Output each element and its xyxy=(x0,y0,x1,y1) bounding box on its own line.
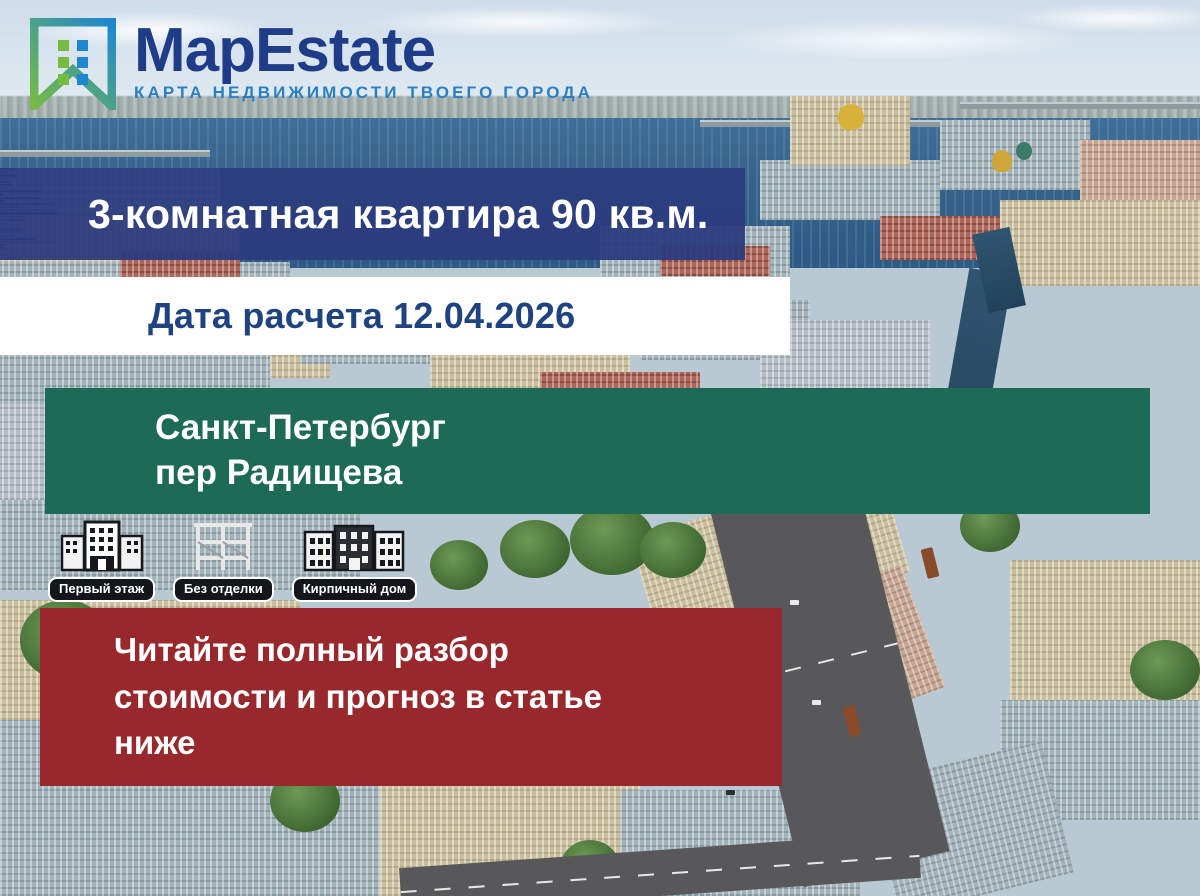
tree xyxy=(1130,640,1200,700)
car xyxy=(812,700,821,705)
cta-text: Читайте полный разбор стоимости и прогно… xyxy=(40,627,782,768)
tree xyxy=(640,522,706,578)
bridge xyxy=(0,150,210,157)
cta-line-3: ниже xyxy=(114,720,782,767)
badge-no-finishing: Без отделки xyxy=(173,518,274,602)
real-estate-poster: MapEstate КАРТА НЕДВИЖИМОСТИ ТВОЕГО ГОРО… xyxy=(0,0,1200,896)
city-block xyxy=(1000,200,1200,286)
city-block xyxy=(940,120,1090,190)
car xyxy=(726,790,735,795)
cta-line-1: Читайте полный разбор xyxy=(114,627,782,674)
badge-label: Кирпичный дом xyxy=(292,577,417,602)
location-text: Санкт-Петербург пер Радищева xyxy=(45,406,1150,496)
cta-banner: Читайте полный разбор стоимости и прогно… xyxy=(40,608,782,786)
calculation-date-banner: Дата расчета 12.04.2026 xyxy=(0,277,790,355)
brand-logo[interactable]: MapEstate КАРТА НЕДВИЖИМОСТИ ТВОЕГО ГОРО… xyxy=(30,18,593,110)
brick-apartment-building-icon xyxy=(302,518,406,574)
colored-dome xyxy=(1016,142,1032,160)
brand-tagline: КАРТА НЕДВИЖИМОСТИ ТВОЕГО ГОРОДА xyxy=(134,83,593,103)
tree xyxy=(430,540,488,590)
badge-first-floor: Первый этаж xyxy=(48,518,155,602)
city-block xyxy=(760,160,940,220)
building-bookmark-logo-icon xyxy=(30,18,116,110)
location-banner: Санкт-Петербург пер Радищева xyxy=(45,388,1150,514)
apartment-title-banner: 3-комнатная квартира 90 кв.м. xyxy=(0,168,745,260)
city-name: Санкт-Петербург xyxy=(155,406,1150,451)
golden-dome xyxy=(838,104,864,130)
tram xyxy=(921,547,940,579)
car xyxy=(790,600,799,605)
street-name: пер Радищева xyxy=(155,451,1150,496)
building-frame-unfinished-icon xyxy=(184,518,262,574)
feature-badges: Первый этаж xyxy=(48,518,417,602)
badge-brick-house: Кирпичный дом xyxy=(292,518,417,602)
office-building-icon xyxy=(59,518,145,574)
calculation-date: Дата расчета 12.04.2026 xyxy=(0,295,790,337)
apartment-title: 3-комнатная квартира 90 кв.м. xyxy=(0,191,745,238)
tree xyxy=(500,520,570,578)
brand-name: MapEstate xyxy=(134,22,593,81)
bridge xyxy=(960,102,1200,109)
cta-line-2: стоимости и прогноз в статье xyxy=(114,674,782,721)
badge-label: Первый этаж xyxy=(48,577,155,602)
badge-label: Без отделки xyxy=(173,577,274,602)
golden-dome xyxy=(992,150,1012,172)
